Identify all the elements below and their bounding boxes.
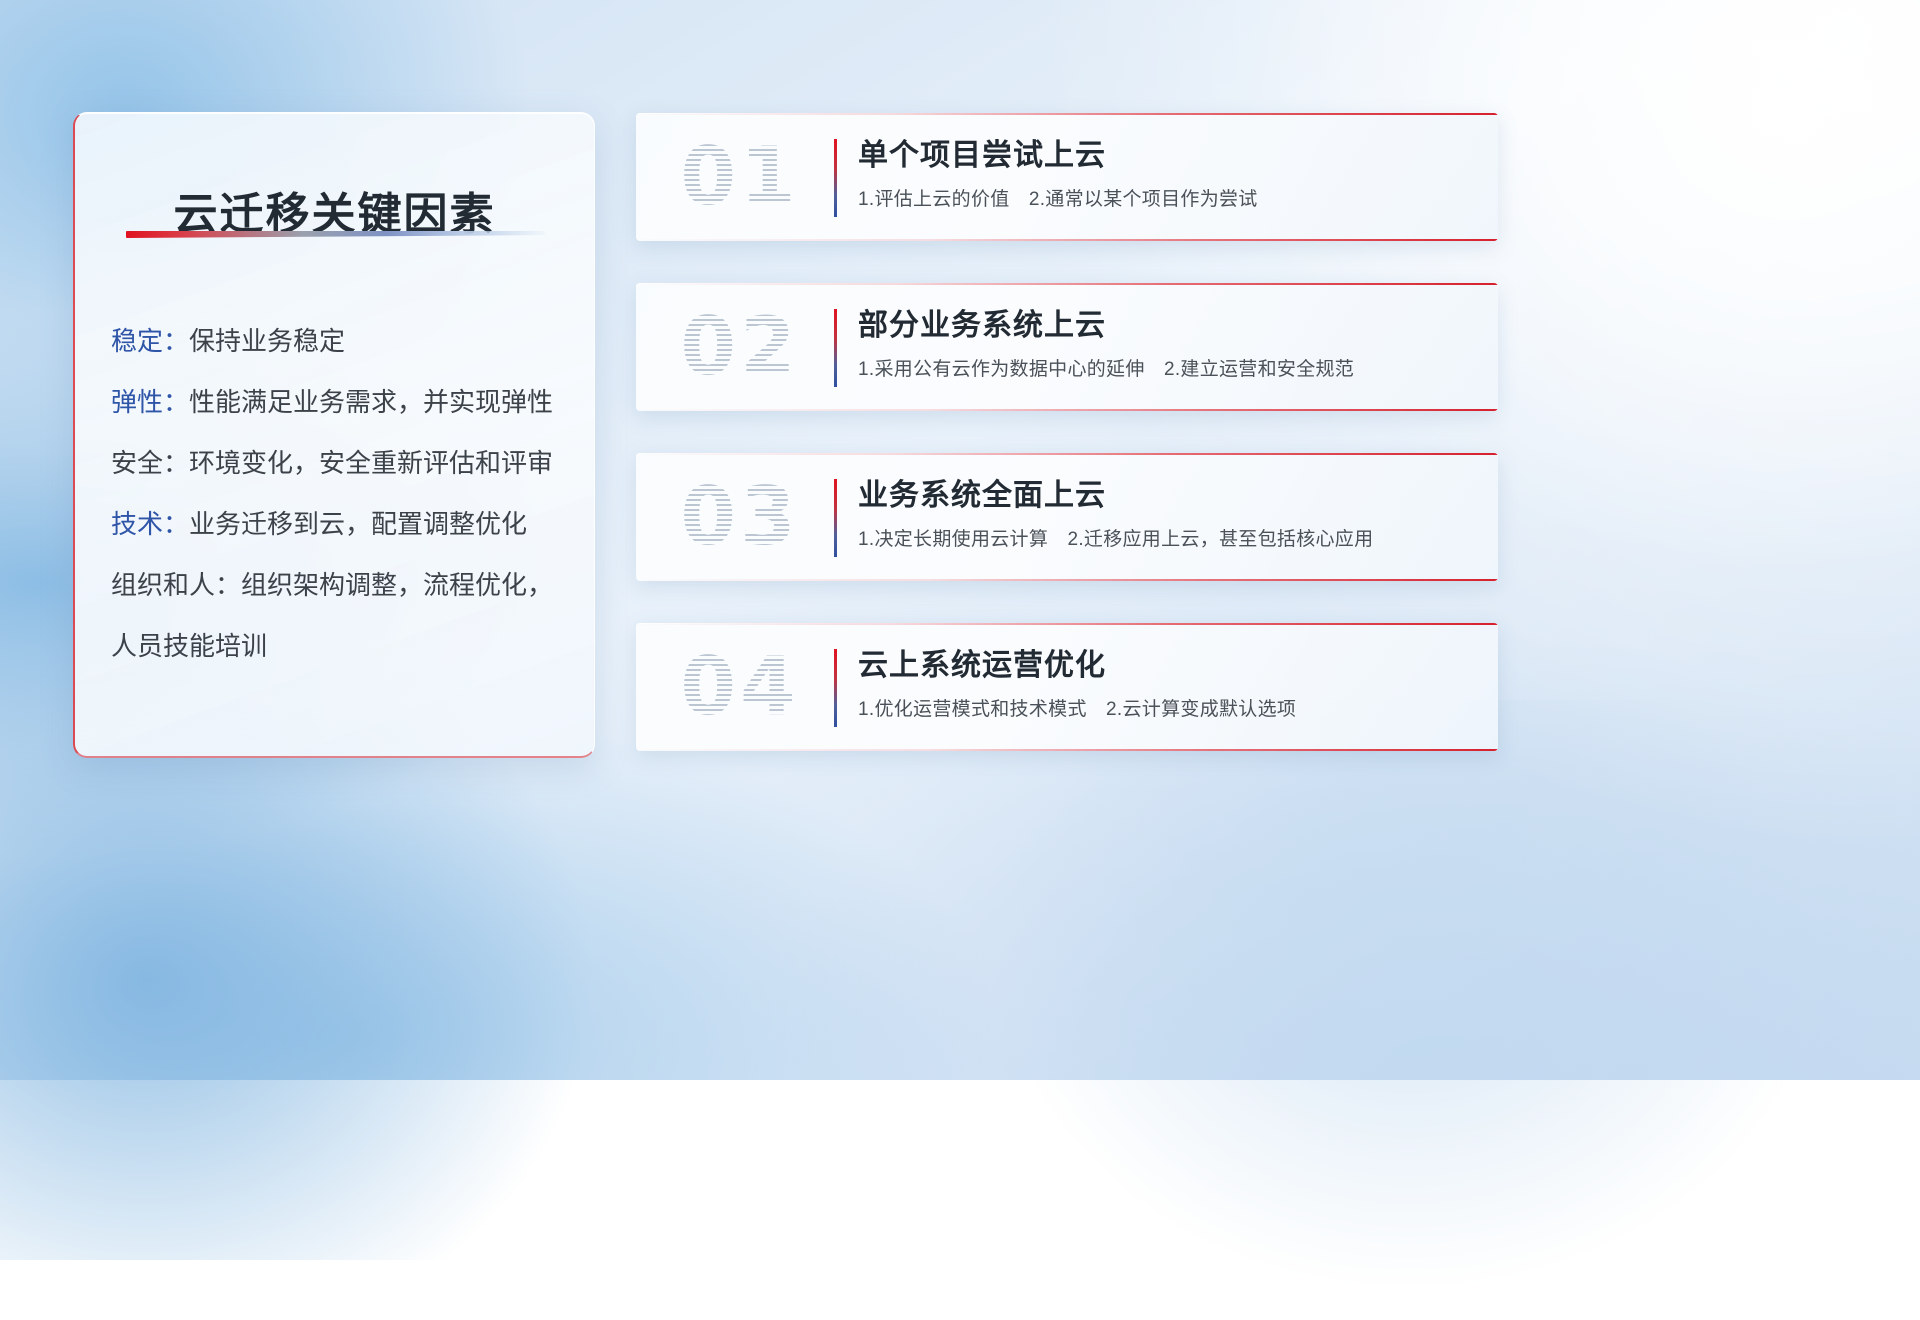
divider — [834, 309, 837, 387]
migration-stage-cards: 01 单个项目尝试上云 1.评估上云的价值 2.通常以某个项目作为尝试 02 部… — [636, 113, 1498, 793]
list-item: 人员技能培训 — [111, 616, 570, 677]
stage-content: 部分业务系统上云 1.采用公有云作为数据中心的延伸 2.建立运营和安全规范 — [858, 303, 1472, 385]
factor-list: 稳定：保持业务稳定 弹性：性能满足业务需求，并实现弹性 安全：环境变化，安全重新… — [111, 311, 570, 677]
factor-value: 保持业务稳定 — [189, 326, 345, 356]
stage-card[interactable]: 01 单个项目尝试上云 1.评估上云的价值 2.通常以某个项目作为尝试 — [636, 113, 1498, 241]
stage-number: 04 — [660, 639, 820, 735]
stage-title: 单个项目尝试上云 — [858, 133, 1472, 179]
factor-value: 业务迁移到云，配置调整优化 — [189, 509, 527, 539]
factor-key: 组织和人： — [111, 570, 241, 600]
stage-description: 1.采用公有云作为数据中心的延伸 2.建立运营和安全规范 — [858, 355, 1472, 385]
stage-description: 1.决定长期使用云计算 2.迁移应用上云，甚至包括核心应用 — [858, 525, 1472, 555]
list-item: 弹性：性能满足业务需求，并实现弹性 — [111, 372, 570, 433]
list-item: 稳定：保持业务稳定 — [111, 311, 570, 372]
factor-value: 人员技能培训 — [111, 631, 267, 661]
stage-number: 03 — [660, 469, 820, 565]
stage-content: 云上系统运营优化 1.优化运营模式和技术模式 2.云计算变成默认选项 — [858, 643, 1472, 725]
list-item: 组织和人：组织架构调整，流程优化， — [111, 555, 570, 616]
factor-value: 性能满足业务需求，并实现弹性 — [189, 387, 553, 417]
divider — [834, 139, 837, 217]
factor-key: 安全： — [111, 448, 189, 478]
stage-content: 业务系统全面上云 1.决定长期使用云计算 2.迁移应用上云，甚至包括核心应用 — [858, 473, 1472, 555]
slide-canvas: 云迁移关键因素 稳定：保持业务稳定 弹性：性能满足业务需求，并实现弹性 安全：环… — [0, 0, 1920, 1080]
stage-number: 02 — [660, 299, 820, 395]
factor-key: 稳定： — [111, 326, 189, 356]
stage-description: 1.优化运营模式和技术模式 2.云计算变成默认选项 — [858, 695, 1472, 725]
stage-number: 01 — [660, 129, 820, 225]
divider — [834, 649, 837, 727]
stage-card[interactable]: 04 云上系统运营优化 1.优化运营模式和技术模式 2.云计算变成默认选项 — [636, 623, 1498, 751]
stage-content: 单个项目尝试上云 1.评估上云的价值 2.通常以某个项目作为尝试 — [858, 133, 1472, 215]
stage-description: 1.评估上云的价值 2.通常以某个项目作为尝试 — [858, 185, 1472, 215]
stage-card[interactable]: 03 业务系统全面上云 1.决定长期使用云计算 2.迁移应用上云，甚至包括核心应… — [636, 453, 1498, 581]
factor-value: 环境变化，安全重新评估和评审 — [189, 448, 553, 478]
list-item: 安全：环境变化，安全重新评估和评审 — [111, 433, 570, 494]
factor-key: 技术： — [111, 509, 189, 539]
divider — [834, 479, 837, 557]
stage-card[interactable]: 02 部分业务系统上云 1.采用公有云作为数据中心的延伸 2.建立运营和安全规范 — [636, 283, 1498, 411]
stage-title: 部分业务系统上云 — [858, 303, 1472, 349]
stage-title: 业务系统全面上云 — [858, 473, 1472, 519]
key-factors-panel: 云迁移关键因素 稳定：保持业务稳定 弹性：性能满足业务需求，并实现弹性 安全：环… — [73, 112, 595, 758]
list-item: 技术：业务迁移到云，配置调整优化 — [111, 494, 570, 555]
stage-title: 云上系统运营优化 — [858, 643, 1472, 689]
factor-value: 组织架构调整，流程优化， — [241, 570, 553, 600]
background-gradient-bottom-right — [960, 700, 1860, 1320]
factor-key: 弹性： — [111, 387, 189, 417]
